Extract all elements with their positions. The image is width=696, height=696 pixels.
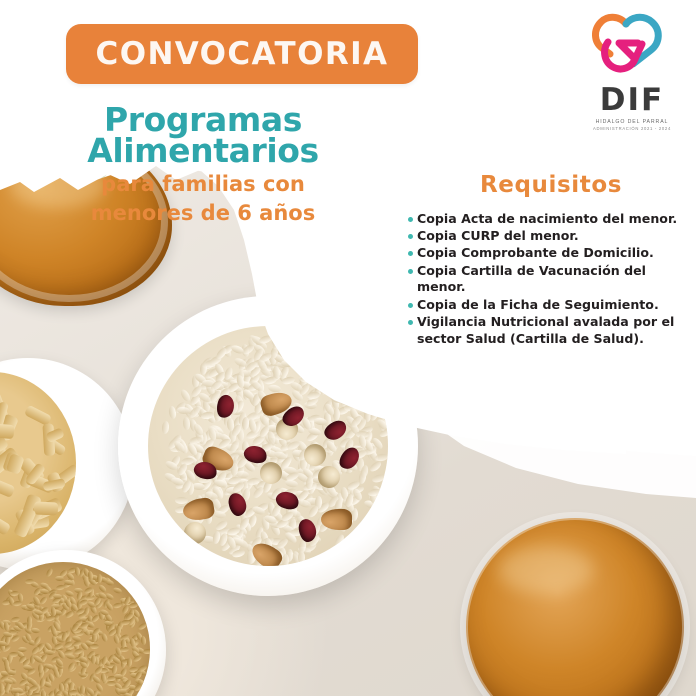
requirement-item: Vigilancia Nutricional avalada por el se… xyxy=(406,314,696,347)
dif-subtitle-city: HIDALGO DEL PARRAL xyxy=(582,119,682,125)
requirement-item: Copia Acta de nacimiento del menor. xyxy=(406,211,696,228)
heading-line-4: menores de 6 años xyxy=(0,201,406,226)
wheat-grain xyxy=(142,649,150,655)
bullet-icon xyxy=(408,217,413,222)
poster-canvas: CONVOCATORIA Programas Alimentarios para… xyxy=(0,0,696,696)
wheat-grain xyxy=(45,567,54,577)
dif-wordmark: DIF xyxy=(582,85,682,116)
pasta-piece xyxy=(0,423,15,439)
oat-flake xyxy=(307,391,321,400)
pasta-piece xyxy=(0,512,12,536)
requirement-item: Copia de la Ficha de Seguimiento. xyxy=(406,297,696,314)
oat-flake xyxy=(285,479,299,489)
wheat-grain xyxy=(41,689,47,696)
oat-flake xyxy=(333,408,340,421)
oat-flake xyxy=(358,386,372,396)
bullet-icon xyxy=(408,234,413,239)
poster-heading: Programas Alimentarios para familias con… xyxy=(0,104,406,226)
muesli-contents xyxy=(148,326,388,566)
bullet-icon xyxy=(408,303,413,308)
hazelnut xyxy=(317,465,341,489)
wheat-grain xyxy=(112,587,122,595)
pasta-piece xyxy=(0,478,15,498)
oat-flake xyxy=(251,485,265,499)
oat-flake xyxy=(375,453,388,462)
wheat-grain xyxy=(18,647,27,652)
wheat-grain xyxy=(90,644,99,649)
requirement-item: Copia Comprobante de Domicilio. xyxy=(406,245,696,262)
requirements-list: Copia Acta de nacimiento del menor.Copia… xyxy=(406,211,696,347)
bullet-icon xyxy=(408,269,413,274)
wheat-grain xyxy=(97,574,102,583)
convocatoria-banner: CONVOCATORIA xyxy=(66,24,418,84)
oat-flake xyxy=(241,417,249,431)
dif-subtitle-admin: ADMINISTRACIÓN 2021 - 2024 xyxy=(582,126,682,131)
heading-line-2: Alimentarios xyxy=(0,135,406,166)
pasta-piece xyxy=(34,501,59,515)
dif-heart-mark-icon xyxy=(586,12,678,78)
requirement-item: Copia CURP del menor. xyxy=(406,228,696,245)
wheat-grain xyxy=(112,602,122,609)
oat-flake xyxy=(182,416,190,430)
requirement-item: Copia Cartilla de Vacunación del menor. xyxy=(406,263,696,296)
oat-flake xyxy=(175,497,188,504)
bullet-icon xyxy=(408,320,413,325)
wheat-grain xyxy=(25,578,34,584)
wheat-grain xyxy=(91,675,101,685)
requirements-section: Requisitos Copia Acta de nacimiento del … xyxy=(406,172,696,348)
convocatoria-label: CONVOCATORIA xyxy=(96,36,389,72)
tea-glass-rim xyxy=(460,512,690,696)
oat-flake xyxy=(272,366,280,380)
oat-flake xyxy=(353,396,361,409)
heading-line-3: para familias con xyxy=(0,172,406,197)
dif-logo: DIF HIDALGO DEL PARRAL ADMINISTRACIÓN 20… xyxy=(582,12,682,128)
bullet-icon xyxy=(408,251,413,256)
oat-flake xyxy=(161,421,169,435)
wheat-grain xyxy=(140,636,146,646)
wheat-grain xyxy=(129,602,139,609)
wheat-grain xyxy=(101,672,107,682)
wheat-grain xyxy=(137,622,147,631)
almond xyxy=(321,509,352,530)
wheat-grain xyxy=(126,658,132,667)
requirements-title: Requisitos xyxy=(406,172,696,198)
wheat-grain xyxy=(55,576,64,581)
basil-leaf-icon xyxy=(3,42,50,97)
